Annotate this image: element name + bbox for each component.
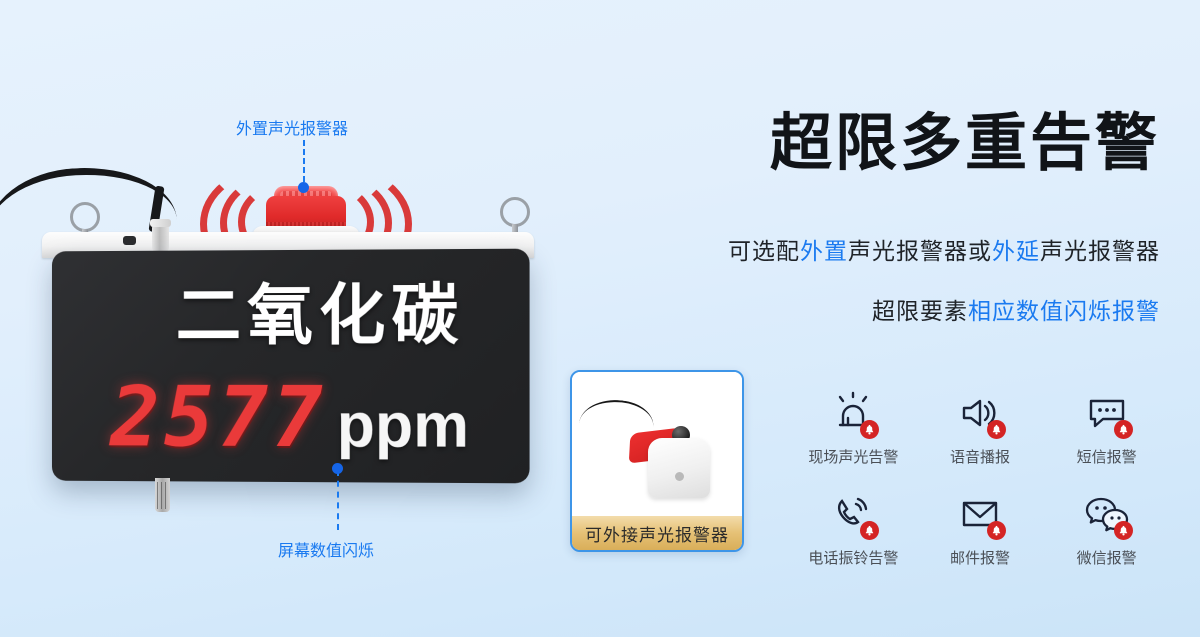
callout-line-bottom <box>337 470 339 530</box>
alarm-light-icon <box>825 388 881 438</box>
alert-channel-label: 电话振铃告警 <box>808 547 898 568</box>
alert-channel-grid: 现场声光告警 语音播报 <box>790 388 1170 568</box>
display-unit: ppm <box>337 390 469 462</box>
alert-channel-label: 短信报警 <box>1077 446 1137 467</box>
display-gas-name: 二氧化碳 <box>111 261 532 358</box>
subtitle-1-part-3: 声光报警器 <box>1040 238 1160 264</box>
subtitle-1-part-1: 可选配 <box>728 238 800 264</box>
alert-channel-label: 微信报警 <box>1077 547 1137 568</box>
alert-channel-item[interactable]: 邮件报警 <box>917 489 1044 568</box>
bell-badge-icon <box>987 420 1006 439</box>
promo-banner: 二氧化碳 2577 ppm 外置声光报警器 屏幕数值闪烁 可外接声光报警器 超限… <box>0 0 1200 637</box>
cable-gland <box>152 224 169 252</box>
subtitle-2-highlight-1: 相应数值闪烁报警 <box>968 298 1160 324</box>
callout-dot-bottom <box>332 463 343 474</box>
sensor-probe <box>155 478 170 512</box>
callout-dot-top <box>298 182 309 193</box>
product-photo-composition: 二氧化碳 2577 ppm 外置声光报警器 屏幕数值闪烁 <box>0 0 580 637</box>
alert-channel-item[interactable]: 短信报警 <box>1043 388 1170 467</box>
alert-channel-item[interactable]: 电话振铃告警 <box>790 489 917 568</box>
alert-channel-item[interactable]: 语音播报 <box>917 388 1044 467</box>
speaker-icon <box>952 388 1008 438</box>
display-panel-screen: 二氧化碳 2577 ppm <box>52 249 530 484</box>
marketing-copy-area: 超限多重告警 可选配外置声光报警器或外延声光报警器 超限要素相应数值闪烁报警 <box>600 0 1200 637</box>
alert-channel-item[interactable]: 现场声光告警 <box>790 388 917 467</box>
alert-channel-item[interactable]: 微信报警 <box>1043 489 1170 568</box>
bell-badge-icon <box>1114 420 1133 439</box>
callout-line-top <box>303 140 305 182</box>
callout-label-screen-blink: 屏幕数值闪烁 <box>278 537 374 561</box>
bell-badge-icon <box>860 521 879 540</box>
hanging-ring-left <box>70 202 100 232</box>
subtitle-1-highlight-1: 外置 <box>800 238 848 264</box>
bell-badge-icon <box>860 420 879 439</box>
page-title: 超限多重告警 <box>600 92 1160 182</box>
bell-badge-icon <box>1114 521 1133 540</box>
subtitle-1-highlight-2: 外延 <box>992 238 1040 264</box>
alert-channel-label: 邮件报警 <box>950 547 1010 568</box>
display-value: 2577 <box>110 368 327 466</box>
bell-badge-icon <box>987 521 1006 540</box>
wechat-icon <box>1079 489 1135 539</box>
alert-channel-label: 现场声光告警 <box>808 446 898 467</box>
subtitle-2-part-1: 超限要素 <box>872 298 968 324</box>
subtitle-line-2: 超限要素相应数值闪烁报警 <box>600 292 1160 326</box>
sms-bubble-icon <box>1079 388 1135 438</box>
display-reading-row: 2577 ppm <box>52 368 530 467</box>
alert-channel-label: 语音播报 <box>950 446 1010 467</box>
phone-ring-icon <box>825 489 881 539</box>
hanging-ring-right <box>500 197 530 227</box>
subtitle-line-1: 可选配外置声光报警器或外延声光报警器 <box>600 232 1160 266</box>
subtitle-1-part-2: 声光报警器或 <box>848 238 992 264</box>
callout-label-external-alarm: 外置声光报警器 <box>236 115 348 139</box>
envelope-icon <box>952 489 1008 539</box>
vent-hole <box>123 236 136 245</box>
